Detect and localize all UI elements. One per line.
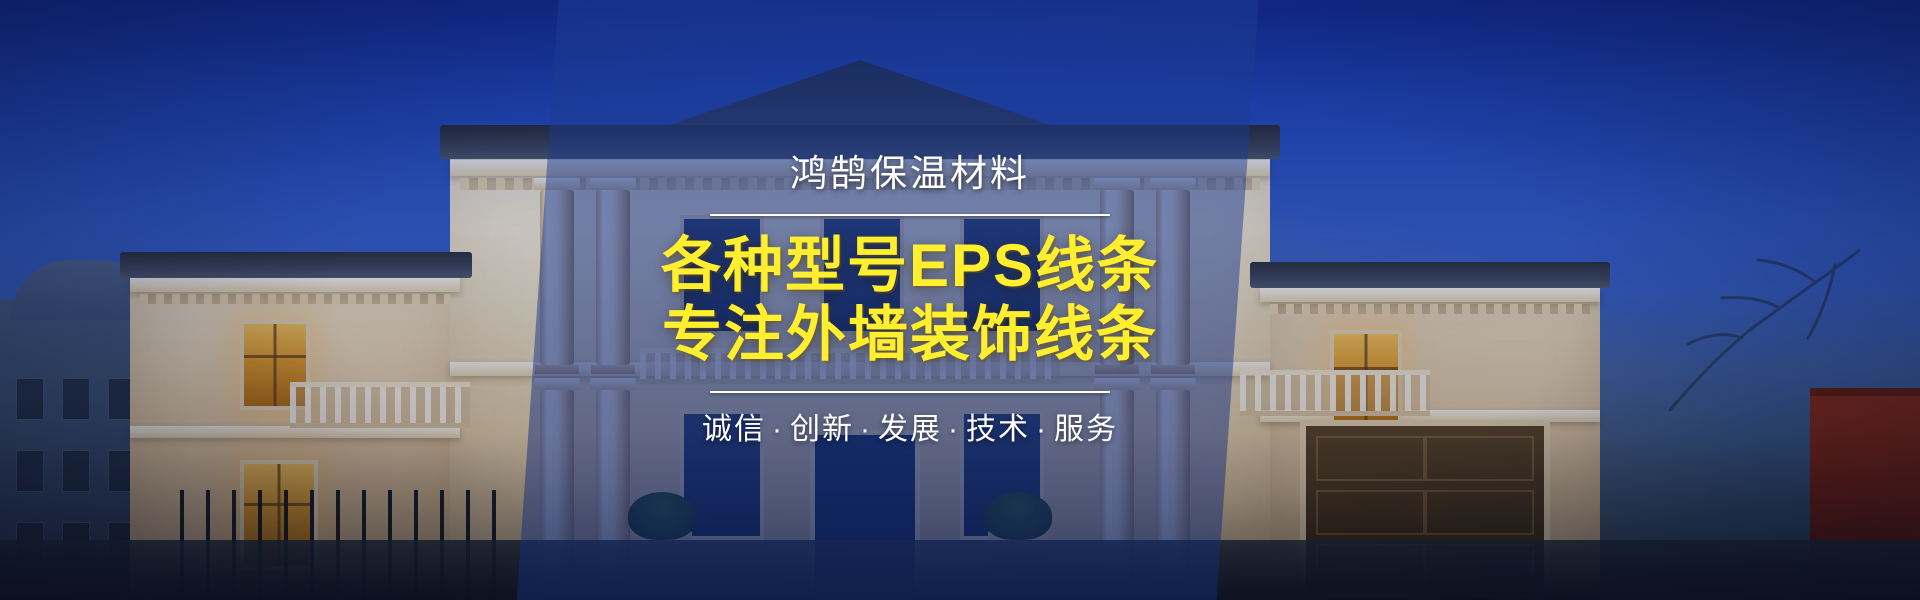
tagline-item-5: 服务 bbox=[1054, 413, 1118, 446]
banner-content: 鸿鹄保温材料 各种型号EPS线条 专注外墙装饰线条 诚信·创新·发展·技术·服务 bbox=[560, 0, 1260, 600]
divider-top bbox=[710, 214, 1110, 216]
tagline-separator: · bbox=[854, 413, 878, 446]
tagline-item-3: 发展 bbox=[878, 413, 942, 446]
tagline-separator: · bbox=[942, 413, 966, 446]
tagline-item-4: 技术 bbox=[966, 413, 1030, 446]
headline-line-2: 专注外墙装饰线条 bbox=[662, 303, 1158, 368]
tagline-item-2: 创新 bbox=[790, 413, 854, 446]
hero-banner: 鸿鹄保温材料 各种型号EPS线条 专注外墙装饰线条 诚信·创新·发展·技术·服务 bbox=[0, 0, 1920, 600]
divider-bottom bbox=[710, 391, 1110, 393]
headline-line-1: 各种型号EPS线条 bbox=[661, 234, 1159, 299]
tagline-item-1: 诚信 bbox=[702, 413, 766, 446]
tagline: 诚信·创新·发展·技术·服务 bbox=[702, 415, 1118, 445]
tagline-separator: · bbox=[766, 413, 790, 446]
tagline-separator: · bbox=[1030, 413, 1054, 446]
brand-name: 鸿鹄保温材料 bbox=[790, 155, 1030, 192]
